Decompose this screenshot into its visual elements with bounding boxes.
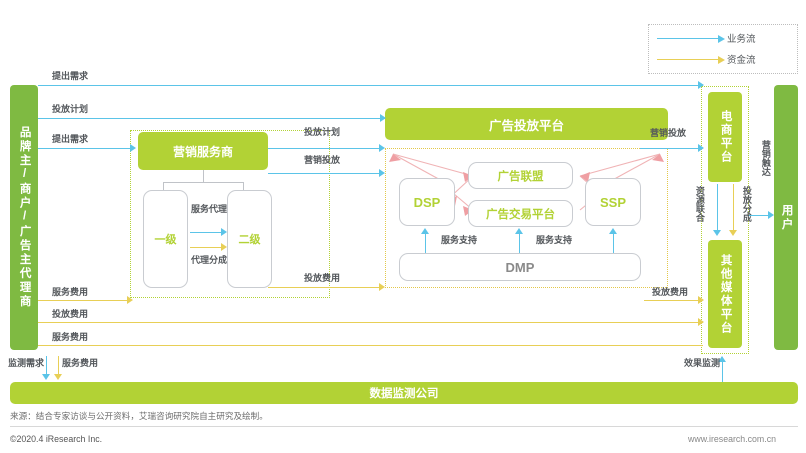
marketing-delivery-mid-line xyxy=(268,173,381,174)
dmp-label: DMP xyxy=(506,260,535,275)
service-fee-monitor-arrowhead xyxy=(54,374,62,380)
demand-top-text: 提出需求 xyxy=(52,71,88,81)
demand-top-label: 提出需求 xyxy=(52,71,88,82)
plan-top-label: 投放计划 xyxy=(52,104,88,115)
plan-mid-label: 投放计划 xyxy=(304,127,340,138)
diagram-canvas: 业务流 资金流 品牌主/商户/广告主代理商 用户 营销服务商 一级 二级 服务代… xyxy=(0,0,806,453)
delivery-share-label: 投放分成 xyxy=(741,186,753,225)
marketing-delivery-right-text: 营销投放 xyxy=(650,128,686,138)
demand-top-arrowhead xyxy=(698,81,704,89)
ad-exchange-box: 广告交易平台 xyxy=(468,200,573,227)
plan-top-line xyxy=(38,118,385,119)
marketing-delivery-mid-text: 营销投放 xyxy=(304,155,340,165)
marketing-service-provider-label: 营销服务商 xyxy=(173,143,233,160)
service-agency-text: 服务代理 xyxy=(191,204,227,214)
business-flow-arrow-icon xyxy=(657,38,719,39)
delivery-fee-right-line xyxy=(644,300,702,301)
delivery-fee-1-arrowhead xyxy=(698,318,704,326)
capital-flow-arrow-icon xyxy=(657,59,719,60)
service-fee-1-label: 服务费用 xyxy=(52,287,88,298)
ad-alliance-label: 广告联盟 xyxy=(498,168,544,184)
primary-agency-label: 一级 xyxy=(155,231,177,247)
other-media-platform-box: 其他媒体平台 xyxy=(708,240,742,348)
marketing-delivery-right-line xyxy=(640,148,702,149)
demand-third-label: 提出需求 xyxy=(52,134,88,145)
dsp-box: DSP xyxy=(399,178,455,226)
ad-platform-header-box: 广告投放平台 xyxy=(385,108,668,140)
data-monitoring-company-bar: 数据监测公司 xyxy=(10,382,798,404)
delivery-share-arrowhead xyxy=(729,230,737,236)
service-agency-line xyxy=(190,232,223,233)
delivery-fee-right-label: 投放费用 xyxy=(652,287,688,298)
copyright: ©2020.4 iResearch Inc. xyxy=(10,434,102,444)
dmp-to-dsp-arrowhead xyxy=(421,228,429,234)
agency-share-label: 代理分成 xyxy=(191,255,225,266)
plan-mid-text: 投放计划 xyxy=(304,127,340,137)
marketing-reach-text: 营销触达 xyxy=(760,140,770,176)
service-support-left-text: 服务支持 xyxy=(441,235,477,245)
marketing-service-provider-box: 营销服务商 xyxy=(138,132,268,170)
ad-exchange-label: 广告交易平台 xyxy=(486,206,555,222)
ssp-label: SSP xyxy=(600,195,626,210)
website-url: www.iresearch.com.cn xyxy=(688,434,776,444)
ecommerce-platform-box: 电商平台 xyxy=(708,92,742,182)
monitor-demand-label: 监测需求 xyxy=(8,358,42,369)
service-fee-1-text: 服务费用 xyxy=(52,287,88,297)
secondary-agency-label: 二级 xyxy=(239,231,261,247)
dmp-to-ssp-line xyxy=(613,232,614,253)
service-fee-2-text: 服务费用 xyxy=(52,332,88,342)
service-fee-monitor-text: 服务费用 xyxy=(62,358,98,368)
plan-mid-line xyxy=(268,148,381,149)
effect-monitor-text: 效果监测 xyxy=(684,358,720,368)
delivery-fee-1-text: 投放费用 xyxy=(52,309,88,319)
left-column-label: 品牌主/商户/广告主代理商 xyxy=(17,126,30,309)
effect-monitor-label: 效果监测 xyxy=(684,358,718,369)
secondary-agency-box: 二级 xyxy=(227,190,272,288)
dmp-to-exchange-line xyxy=(519,232,520,253)
delivery-fee-agency-line xyxy=(268,287,383,288)
ssp-box: SSP xyxy=(585,178,641,226)
delivery-fee-mid-label: 投放费用 xyxy=(304,273,340,284)
right-column-users: 用户 xyxy=(774,85,798,350)
service-fee-2-line xyxy=(38,345,703,346)
legend-label: 资金流 xyxy=(727,52,756,66)
legend-item-capital-flow: 资金流 xyxy=(657,52,789,66)
website-url-text: www.iresearch.com.cn xyxy=(688,434,776,444)
dmp-to-ssp-arrowhead xyxy=(609,228,617,234)
agency-share-line xyxy=(190,247,223,248)
plan-mid-arrowhead xyxy=(379,144,385,152)
agency-bracket-stem xyxy=(203,170,204,182)
source-text: 来源：结合专家访谈与公开资料，艾瑞咨询研究院自主研究及绘制。 xyxy=(10,411,268,421)
effect-monitor-line xyxy=(722,360,723,382)
ad-alliance-box: 广告联盟 xyxy=(468,162,573,189)
demand-third-arrowhead xyxy=(130,144,136,152)
agency-bracket-left xyxy=(163,182,164,190)
marketing-delivery-mid-label: 营销投放 xyxy=(304,155,340,166)
legend-label: 业务流 xyxy=(727,31,756,45)
resource-union-line xyxy=(717,184,718,232)
other-media-platform-label: 其他媒体平台 xyxy=(718,254,731,335)
legend: 业务流 资金流 xyxy=(648,24,798,74)
agency-bracket-bar xyxy=(163,182,243,183)
marketing-delivery-right-arrowhead xyxy=(698,144,704,152)
data-monitoring-company-label: 数据监测公司 xyxy=(370,385,439,401)
service-fee-monitor-label: 服务费用 xyxy=(62,358,96,369)
dsp-label: DSP xyxy=(414,195,441,210)
marketing-delivery-right-label: 营销投放 xyxy=(650,128,686,139)
agency-share-arrowhead xyxy=(221,243,227,251)
footer-divider xyxy=(10,426,798,427)
demand-third-line xyxy=(38,148,133,149)
delivery-fee-1-label: 投放费用 xyxy=(52,309,88,320)
marketing-delivery-mid-arrowhead xyxy=(379,169,385,177)
monitor-demand-text: 监测需求 xyxy=(8,358,44,368)
demand-top-line xyxy=(38,85,703,86)
plan-top-text: 投放计划 xyxy=(52,104,88,114)
dmp-to-dsp-line xyxy=(425,232,426,253)
service-support-left-label: 服务支持 xyxy=(441,235,477,246)
ecommerce-platform-label: 电商平台 xyxy=(718,110,731,164)
delivery-fee-agency-arrowhead xyxy=(379,283,385,291)
ad-platform-title: 广告投放平台 xyxy=(489,115,564,134)
marketing-reach-arrowhead xyxy=(768,211,774,219)
monitor-demand-arrowhead xyxy=(42,374,50,380)
dmp-to-exchange-arrowhead xyxy=(515,228,523,234)
right-column-label: 用户 xyxy=(779,204,792,232)
service-fee-2-label: 服务费用 xyxy=(52,332,88,343)
service-fee-1-line xyxy=(38,300,130,301)
delivery-share-text: 投放分成 xyxy=(741,186,751,222)
demand-third-text: 提出需求 xyxy=(52,134,88,144)
dmp-box: DMP xyxy=(399,253,641,281)
agency-bracket-right xyxy=(243,182,244,190)
agency-share-text: 代理分成 xyxy=(191,255,227,265)
delivery-fee-1-line xyxy=(38,322,703,323)
service-agency-arrowhead xyxy=(221,228,227,236)
resource-union-arrowhead xyxy=(713,230,721,236)
service-agency-label: 服务代理 xyxy=(191,204,225,215)
delivery-share-line xyxy=(733,184,734,232)
copyright-text: ©2020.4 iResearch Inc. xyxy=(10,434,102,444)
primary-agency-box: 一级 xyxy=(143,190,188,288)
service-fee-1-arrowhead xyxy=(127,296,133,304)
marketing-reach-label: 营销触达 xyxy=(760,140,772,179)
service-support-right-text: 服务支持 xyxy=(536,235,572,245)
left-column-advertiser: 品牌主/商户/广告主代理商 xyxy=(10,85,38,350)
delivery-fee-mid-text: 投放费用 xyxy=(304,273,340,283)
service-support-right-label: 服务支持 xyxy=(536,235,572,246)
plan-top-arrowhead xyxy=(380,114,386,122)
resource-union-text: 资源联合 xyxy=(694,186,704,222)
delivery-fee-right-arrowhead xyxy=(698,296,704,304)
resource-union-label: 资源联合 xyxy=(694,186,706,225)
source-note: 来源：结合专家访谈与公开资料，艾瑞咨询研究院自主研究及绘制。 xyxy=(10,410,268,422)
delivery-fee-right-text: 投放费用 xyxy=(652,287,688,297)
legend-item-business-flow: 业务流 xyxy=(657,31,789,45)
